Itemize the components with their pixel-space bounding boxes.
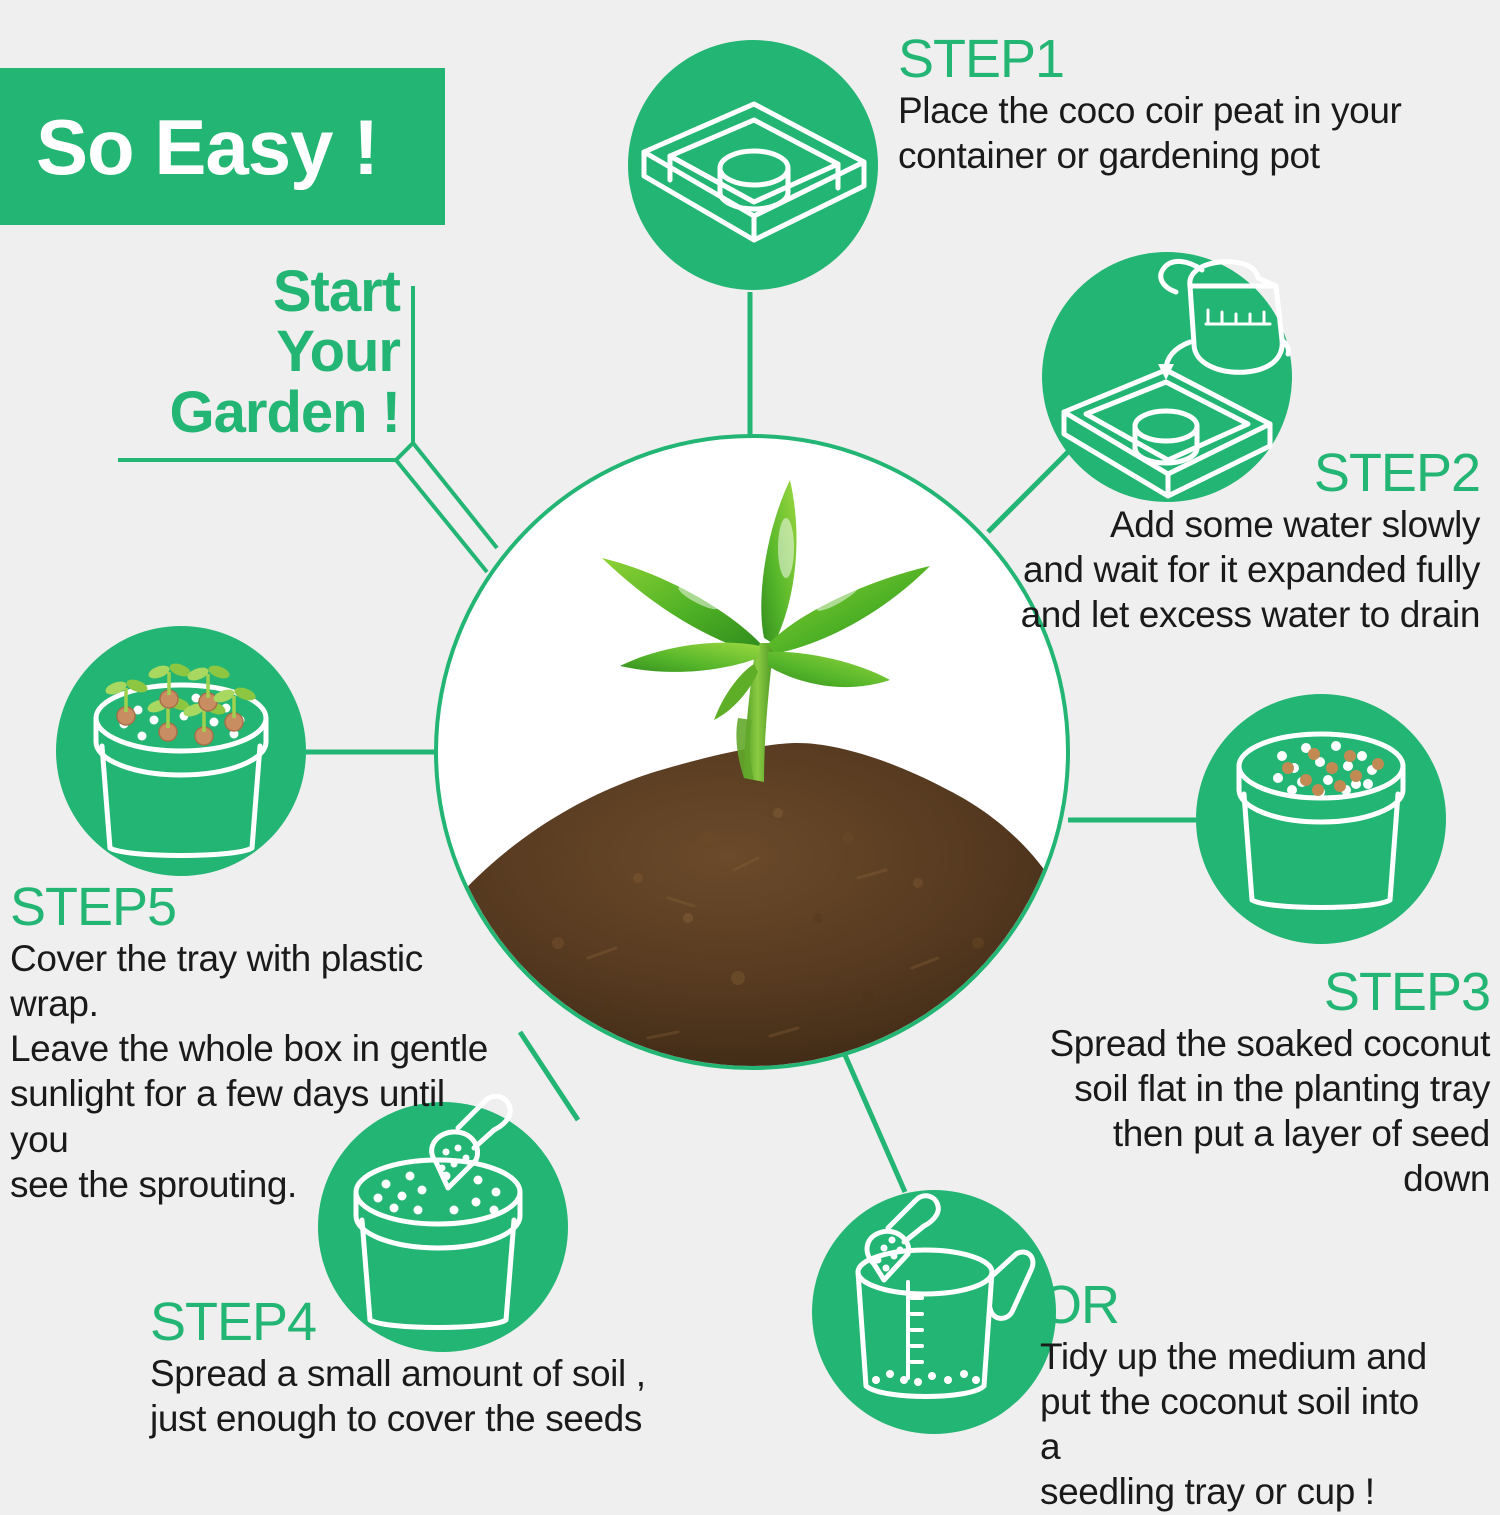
step5-label: STEP5 (10, 880, 500, 934)
step3-body: Spread the soaked coconut soil flat in t… (1030, 1021, 1490, 1202)
step3-label: STEP3 (1030, 965, 1490, 1019)
step4-label: STEP4 (150, 1295, 650, 1349)
step1-label: STEP1 (898, 32, 1418, 86)
pot-with-sprouts-icon (56, 626, 306, 876)
step2-body: Add some water slowly and wait for it ex… (960, 502, 1480, 637)
infographic-root: So Easy ! Start Your Garden ! (0, 0, 1500, 1500)
step2-label: STEP2 (960, 446, 1480, 500)
so-easy-banner-label: So Easy ! (0, 108, 378, 186)
step1-body: Place the coco coir peat in your contain… (898, 88, 1418, 178)
step1-text-block: STEP1 Place the coco coir peat in your c… (898, 32, 1418, 178)
step5-text-block: STEP5 Cover the tray with plastic wrap. … (10, 880, 500, 1207)
step5-icon-circle[interactable] (56, 626, 306, 876)
headline-line-1: Start (60, 262, 400, 322)
so-easy-banner: So Easy ! (0, 68, 445, 225)
cup-with-trowel-icon (812, 1190, 1056, 1434)
or-label: OR (1040, 1278, 1440, 1332)
or-body: Tidy up the medium and put the coconut s… (1040, 1334, 1440, 1515)
step1-icon-circle[interactable] (628, 40, 878, 290)
step5-body: Cover the tray with plastic wrap. Leave … (10, 936, 500, 1207)
step4-body: Spread a small amount of soil , just eno… (150, 1351, 650, 1441)
step3-text-block: STEP3 Spread the soaked coconut soil fla… (1030, 965, 1490, 1202)
step4-text-block: STEP4 Spread a small amount of soil , ju… (150, 1295, 650, 1441)
or-text-block: OR Tidy up the medium and put the coconu… (1040, 1278, 1440, 1515)
step3-icon-circle[interactable] (1196, 694, 1446, 944)
headline-start-your-garden: Start Your Garden ! (60, 262, 400, 443)
or-connector (845, 1055, 905, 1192)
or-icon-circle[interactable] (812, 1190, 1056, 1434)
pot-with-seeds-icon (1196, 694, 1446, 944)
step2-text-block: STEP2 Add some water slowly and wait for… (960, 446, 1480, 637)
headline-line-2: Your (60, 322, 400, 382)
tray-with-coir-puck-icon (628, 40, 878, 290)
headline-line-3: Garden ! (60, 383, 400, 443)
